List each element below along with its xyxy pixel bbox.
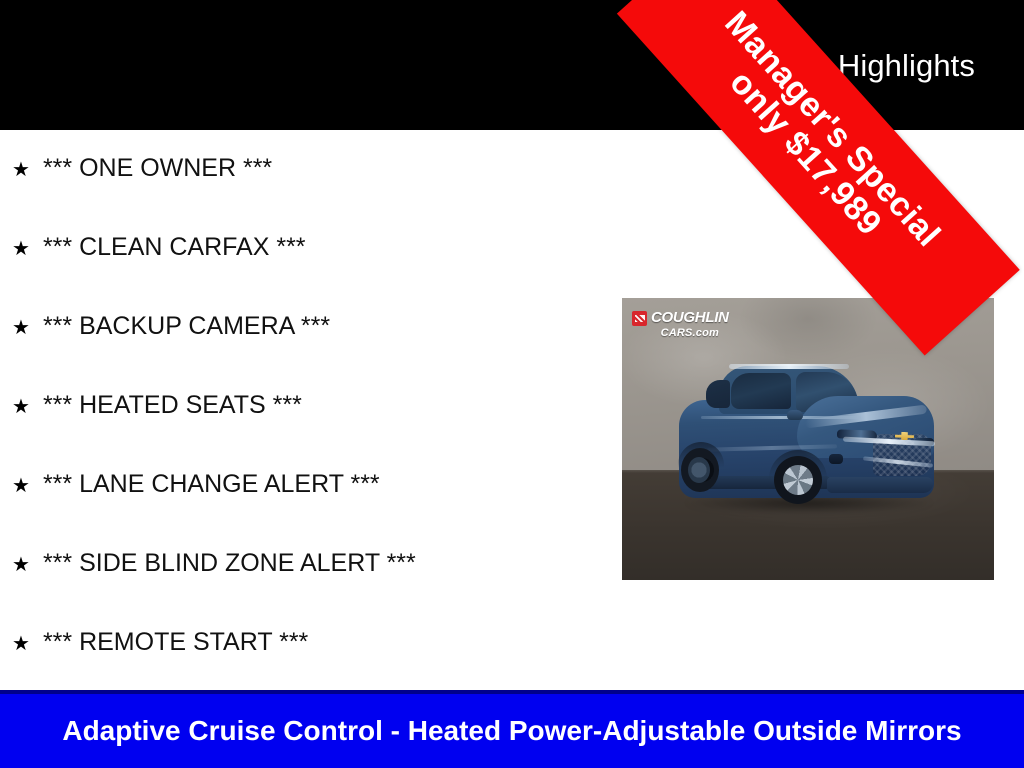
list-item: ★ *** CLEAN CARFAX *** (0, 235, 620, 314)
vehicle-front-wheel (774, 456, 822, 504)
list-item: ★ *** SIDE BLIND ZONE ALERT *** (0, 551, 620, 630)
star-icon: ★ (12, 318, 30, 338)
vehicle-front-bumper (827, 477, 933, 493)
coughlin-mark-icon (632, 311, 647, 326)
footer-feature-text: Adaptive Cruise Control - Heated Power-A… (62, 713, 961, 749)
highlights-list: ★ *** ONE OWNER *** ★ *** CLEAN CARFAX *… (0, 130, 620, 709)
dealer-website: CARS.com (651, 328, 729, 339)
vehicle-beltline-trim (701, 416, 861, 419)
dealer-logo-text: COUGHLIN CARS.com (651, 310, 729, 339)
star-icon: ★ (12, 634, 30, 654)
dealer-name: COUGHLIN (651, 309, 729, 326)
highlight-label: *** LANE CHANGE ALERT *** (43, 472, 380, 497)
highlight-label: *** CLEAN CARFAX *** (43, 235, 306, 260)
star-icon: ★ (12, 239, 30, 259)
vehicle-fog-lamp (829, 454, 843, 464)
vehicle-rear-wheel (681, 448, 719, 492)
highlight-label: *** HEATED SEATS *** (43, 393, 302, 418)
list-item: ★ *** HEATED SEATS *** (0, 393, 620, 472)
vehicle-rear-door-glass (731, 373, 791, 409)
list-item: ★ *** LANE CHANGE ALERT *** (0, 472, 620, 551)
highlight-label: *** ONE OWNER *** (43, 156, 272, 181)
star-icon: ★ (12, 476, 30, 496)
vehicle-side-mirror (787, 410, 803, 420)
highlight-label: *** BACKUP CAMERA *** (43, 314, 330, 339)
star-icon: ★ (12, 555, 30, 575)
vehicle-rear-quarter-glass (706, 380, 730, 408)
vehicle-suv-illustration (677, 360, 942, 520)
highlight-label: *** REMOTE START *** (43, 630, 308, 655)
highlight-label: *** SIDE BLIND ZONE ALERT *** (43, 551, 416, 576)
footer-bar: Adaptive Cruise Control - Heated Power-A… (0, 690, 1024, 768)
star-icon: ★ (12, 160, 30, 180)
dealer-watermark-logo: COUGHLIN CARS.com (632, 310, 729, 339)
list-item: ★ *** ONE OWNER *** (0, 130, 620, 235)
star-icon: ★ (12, 397, 30, 417)
vehicle-highlights-slide: Vehicle Highlights ★ *** ONE OWNER *** ★… (0, 0, 1024, 768)
vehicle-roof-rail (729, 364, 849, 369)
list-item: ★ *** BACKUP CAMERA *** (0, 314, 620, 393)
